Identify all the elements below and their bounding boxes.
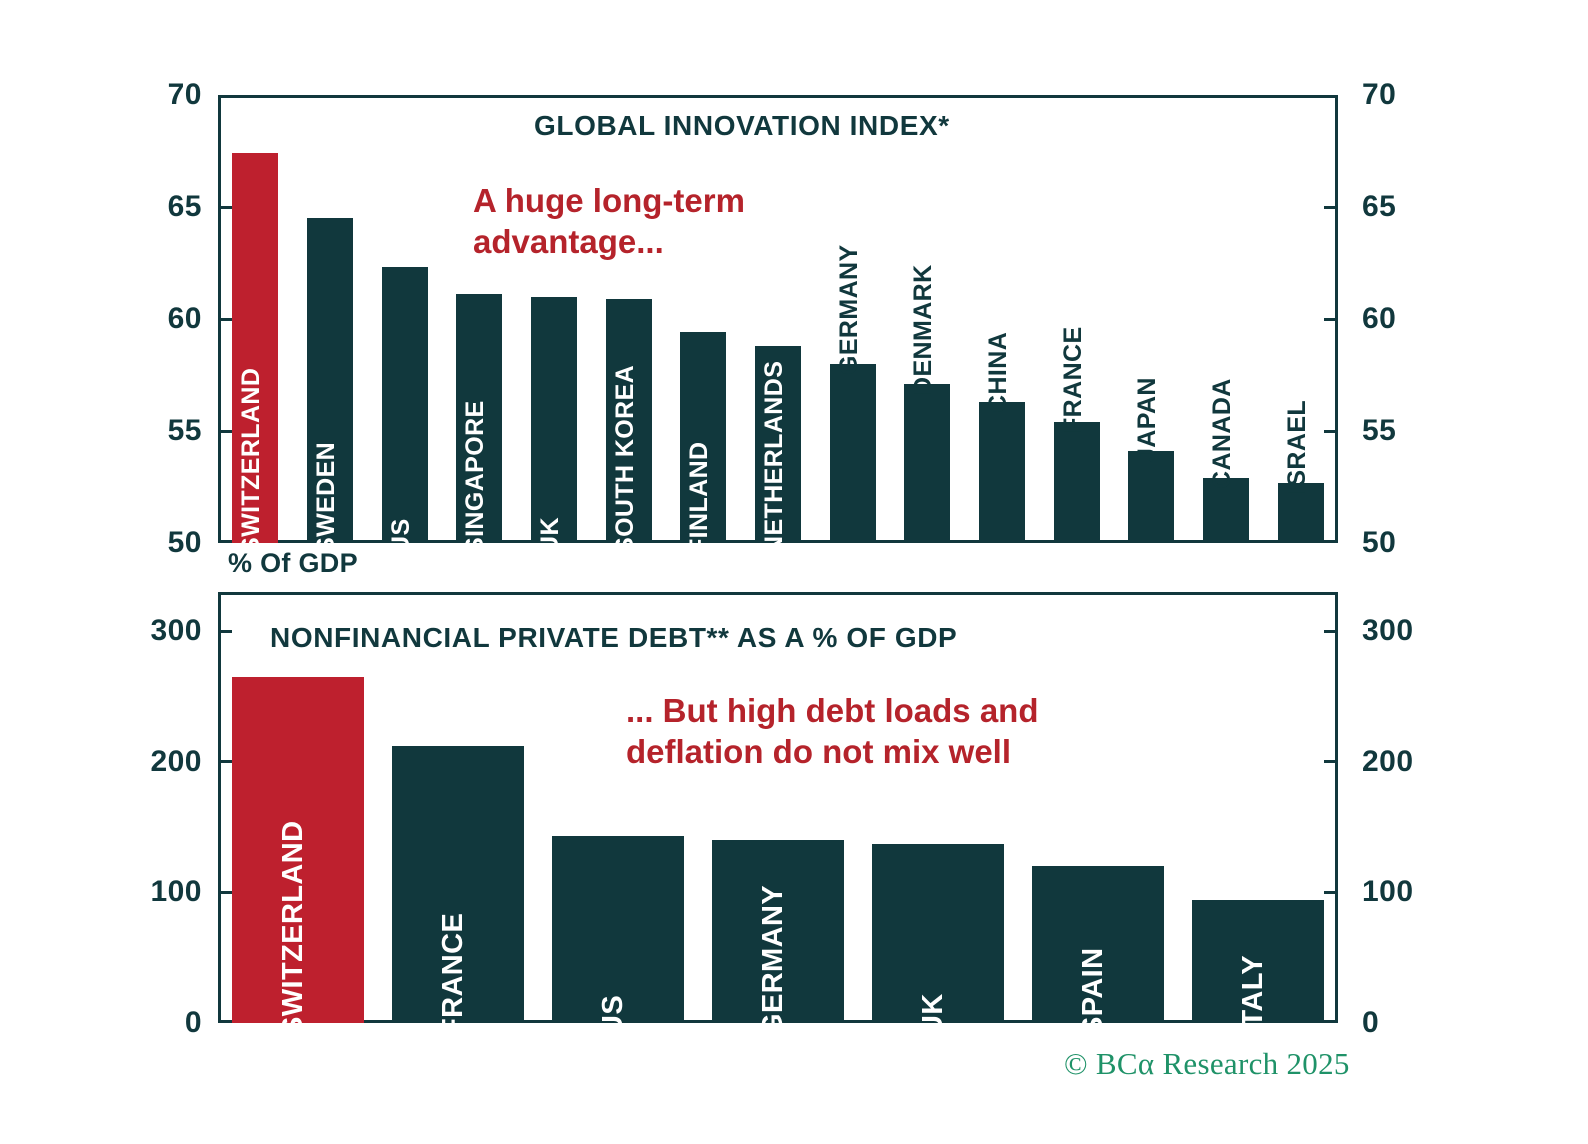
axis-caption-gdp: % Of GDP bbox=[228, 548, 358, 579]
bar-label-uk: UK bbox=[538, 517, 563, 554]
bar-label-south-korea: SOUTH KOREA bbox=[613, 365, 638, 554]
y-tick-mark-left bbox=[218, 206, 232, 209]
bar-label-france: FRANCE bbox=[439, 913, 468, 1036]
y-tick-mark-left bbox=[218, 760, 232, 763]
y-tick-mark-right bbox=[1324, 760, 1338, 763]
y-tick-label-left: 65 bbox=[168, 192, 202, 222]
y-tick-mark-left bbox=[218, 430, 232, 433]
bar-label-switzerland: SWITZERLAND bbox=[279, 821, 308, 1036]
bars-top: SWITZERLANDSWEDENUSSINGAPOREUKSOUTH KORE… bbox=[218, 95, 1338, 543]
y-tick-label-left: 55 bbox=[168, 416, 202, 446]
bar-us[interactable] bbox=[382, 267, 428, 543]
panel-global-innovation-index: SWITZERLANDSWEDENUSSINGAPOREUKSOUTH KORE… bbox=[218, 95, 1338, 543]
copyright-notice: © BCα Research 2025 bbox=[1064, 1046, 1350, 1082]
y-tick-mark-left bbox=[218, 630, 232, 633]
chart-figure: SWITZERLANDSWEDENUSSINGAPOREUKSOUTH KORE… bbox=[0, 0, 1588, 1144]
y-tick-label-right: 300 bbox=[1362, 616, 1414, 646]
bar-label-japan: JAPAN bbox=[1135, 377, 1160, 462]
bar-label-france: FRANCE bbox=[1061, 326, 1086, 433]
bar-label-singapore: SINGAPORE bbox=[463, 400, 488, 554]
y-tick-label-right: 70 bbox=[1362, 80, 1396, 110]
chart-annotation-top: A huge long-term advantage... bbox=[473, 180, 745, 263]
y-tick-mark-right bbox=[1324, 206, 1338, 209]
bar-china[interactable] bbox=[979, 402, 1025, 543]
y-tick-label-left: 70 bbox=[168, 80, 202, 110]
y-tick-mark-right bbox=[1324, 630, 1338, 633]
y-tick-mark-left bbox=[218, 891, 232, 894]
y-tick-label-left: 100 bbox=[150, 877, 202, 907]
chart-annotation-bottom: ... But high debt loads and deflation do… bbox=[626, 690, 1038, 773]
bar-label-spain: SPAIN bbox=[1079, 948, 1108, 1036]
y-tick-label-left: 60 bbox=[168, 304, 202, 334]
y-tick-label-right: 65 bbox=[1362, 192, 1396, 222]
bar-label-us: US bbox=[389, 518, 414, 554]
y-tick-label-left: 200 bbox=[150, 747, 202, 777]
y-tick-mark-right bbox=[1324, 318, 1338, 321]
y-tick-label-right: 50 bbox=[1362, 528, 1396, 558]
y-tick-mark-right bbox=[1324, 430, 1338, 433]
y-tick-mark-right bbox=[1324, 891, 1338, 894]
bar-label-finland: FINLAND bbox=[687, 441, 712, 554]
y-tick-label-right: 60 bbox=[1362, 304, 1396, 334]
bar-japan[interactable] bbox=[1128, 451, 1174, 543]
bar-label-israel: ISRAEL bbox=[1285, 399, 1310, 493]
chart-title-bottom: NONFINANCIAL PRIVATE DEBT** AS A % OF GD… bbox=[270, 622, 957, 654]
y-tick-label-left: 50 bbox=[168, 528, 202, 558]
bar-label-uk: UK bbox=[919, 993, 948, 1036]
y-tick-mark-left bbox=[218, 318, 232, 321]
bar-france[interactable] bbox=[1054, 422, 1100, 543]
y-tick-label-left: 0 bbox=[185, 1008, 202, 1038]
y-tick-label-right: 200 bbox=[1362, 747, 1414, 777]
y-tick-label-left: 300 bbox=[150, 616, 202, 646]
bar-label-switzerland: SWITZERLAND bbox=[239, 368, 264, 554]
bar-germany[interactable] bbox=[830, 364, 876, 543]
bar-label-sweden: SWEDEN bbox=[314, 442, 339, 554]
bar-label-us: US bbox=[599, 995, 628, 1036]
y-tick-label-right: 100 bbox=[1362, 877, 1414, 907]
chart-title-top: GLOBAL INNOVATION INDEX* bbox=[534, 110, 950, 142]
bar-label-italy: ITALY bbox=[1239, 955, 1268, 1036]
bar-label-canada: CANADA bbox=[1210, 378, 1235, 489]
bar-label-germany: GERMANY bbox=[837, 244, 862, 375]
bar-denmark[interactable] bbox=[904, 384, 950, 543]
bar-label-germany: GERMANY bbox=[759, 885, 788, 1036]
bar-uk[interactable] bbox=[531, 297, 577, 543]
bar-label-china: CHINA bbox=[986, 332, 1011, 413]
bar-label-netherlands: NETHERLANDS bbox=[762, 361, 787, 554]
bars-bottom: SWITZERLANDFRANCEUSGERMANYUKSPAINITALY bbox=[218, 592, 1338, 1023]
y-tick-label-right: 0 bbox=[1362, 1008, 1379, 1038]
bar-label-denmark: DENMARK bbox=[911, 264, 936, 395]
panel-nonfinancial-private-debt: SWITZERLANDFRANCEUSGERMANYUKSPAINITALY N… bbox=[218, 592, 1338, 1023]
y-tick-label-right: 55 bbox=[1362, 416, 1396, 446]
